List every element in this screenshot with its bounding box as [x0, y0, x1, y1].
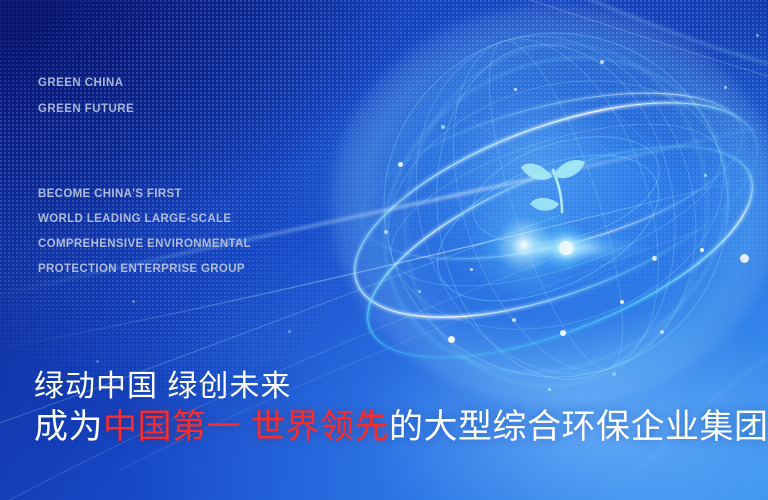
center-lens-flare — [464, 185, 584, 305]
particle-dot — [132, 300, 135, 303]
particle-dot — [448, 336, 455, 343]
headline-prefix: 成为 — [34, 408, 103, 446]
eyebrow-text-block: GREEN CHINA GREEN FUTURE — [38, 70, 134, 122]
particle-dot — [724, 86, 727, 89]
particle-dot — [756, 34, 759, 37]
particle-dot — [384, 230, 388, 234]
eyebrow-line-2: GREEN FUTURE — [38, 96, 134, 122]
tagline-text-block: BECOME CHINA'S FIRST WORLD LEADING LARGE… — [38, 182, 251, 282]
particle-dot — [560, 330, 566, 336]
particle-dot — [398, 162, 403, 167]
particle-dot — [740, 254, 749, 263]
particle-dot — [96, 360, 99, 363]
particle-dot — [514, 88, 517, 91]
headline-line-2: 成为中国第一 世界领先的大型综合环保企业集团 — [34, 406, 768, 448]
headline-line-1: 绿动中国 绿创未来 — [34, 368, 768, 406]
particle-dot — [600, 60, 604, 64]
particle-dot — [418, 290, 421, 293]
headline-accent: 中国第一 世界领先 — [103, 408, 389, 446]
particle-dot — [288, 330, 291, 333]
particle-dot — [512, 318, 516, 322]
tagline-line-2: WORLD LEADING LARGE-SCALE — [38, 207, 251, 232]
hero-banner: GREEN CHINA GREEN FUTURE BECOME CHINA'S … — [0, 0, 768, 500]
particle-dot — [660, 330, 664, 334]
particle-dot — [470, 268, 473, 271]
particle-dot — [620, 300, 624, 304]
particle-dot — [700, 248, 704, 252]
eyebrow-line-1: GREEN CHINA — [38, 70, 134, 96]
headline-block: 绿动中国 绿创未来 成为中国第一 世界领先的大型综合环保企业集团 — [34, 368, 768, 448]
tagline-line-1: BECOME CHINA'S FIRST — [38, 182, 251, 207]
headline-suffix: 的大型综合环保企业集团 — [389, 408, 768, 446]
particle-dot — [704, 174, 707, 177]
tagline-line-4: PROTECTION ENTERPRISE GROUP — [38, 257, 251, 282]
particle-dot — [441, 125, 445, 129]
tagline-line-3: COMPREHENSIVE ENVIRONMENTAL — [38, 232, 251, 257]
particle-dot — [652, 256, 657, 261]
